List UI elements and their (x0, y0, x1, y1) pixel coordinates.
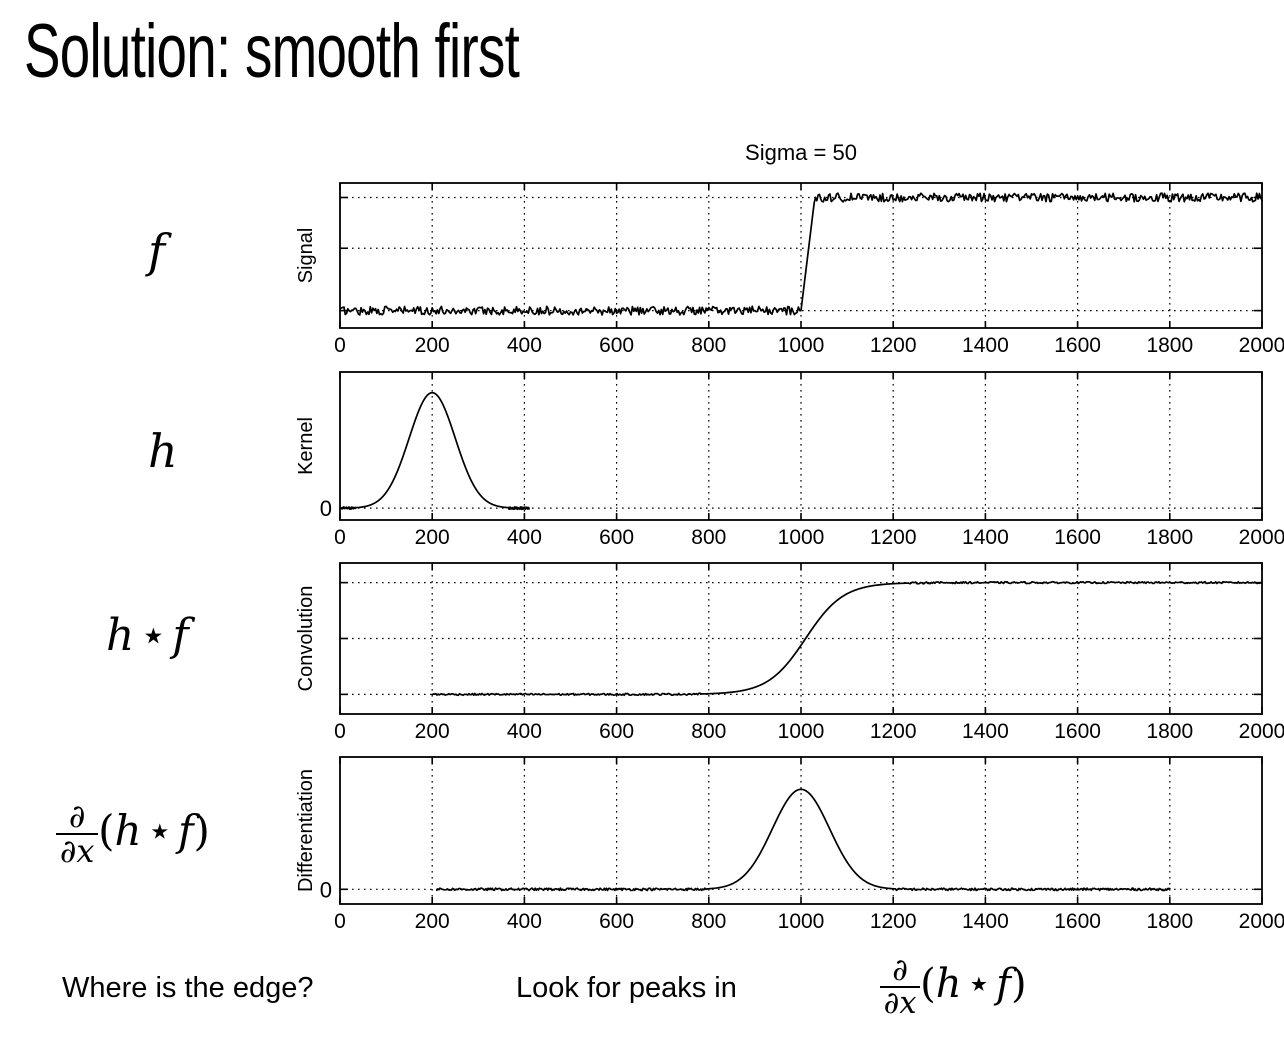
subplot-signal: 0200400600800100012001400160018002000Sig… (295, 183, 1284, 357)
x-tick-label: 800 (691, 720, 726, 743)
x-tick-label: 400 (507, 720, 542, 743)
y-axis-label: Signal (295, 228, 317, 284)
x-tick-label: 600 (599, 910, 634, 933)
data-curve (340, 393, 529, 510)
y-axis-label: Convolution (295, 586, 317, 692)
x-tick-label: 200 (415, 910, 450, 933)
x-tick-label: 2000 (1239, 720, 1284, 743)
y-axis-label: Differentiation (295, 769, 317, 892)
paren-open: ( (920, 961, 936, 1007)
x-tick-label: 200 (415, 720, 450, 743)
x-tick-label: 2000 (1239, 526, 1284, 549)
subplot-kernel: 02004006008001000120014001600180020000Ke… (295, 372, 1284, 549)
caption-where-is-the-edge: Where is the edge? (62, 972, 313, 1005)
fraction-denominator: ∂x (880, 986, 920, 1019)
y-tick-label: 0 (320, 877, 332, 902)
chart-title: Sigma = 50 (745, 140, 857, 165)
x-tick-label: 1200 (870, 720, 917, 743)
data-curve (437, 789, 1170, 890)
x-tick-label: 1600 (1054, 910, 1101, 933)
subplot-convolution: 0200400600800100012001400160018002000Con… (295, 563, 1284, 743)
slide-canvas: Solution: smooth first f h h⋆f ∂ ∂x (h⋆f… (0, 0, 1284, 1043)
partial-derivative-fraction: ∂ ∂x (880, 955, 920, 1019)
math-h: h (936, 961, 962, 1007)
paren-close: ) (1011, 961, 1027, 1007)
x-tick-label: 1200 (870, 334, 917, 357)
x-tick-label: 600 (599, 720, 634, 743)
x-tick-label: 1200 (870, 526, 917, 549)
x-tick-label: 1000 (778, 910, 825, 933)
y-tick-label: 0 (320, 496, 332, 521)
x-tick-label: 800 (691, 526, 726, 549)
x-tick-label: 0 (334, 720, 346, 743)
x-tick-label: 1600 (1054, 526, 1101, 549)
plot-frame (340, 372, 1262, 520)
x-tick-label: 800 (691, 334, 726, 357)
x-tick-label: 1400 (962, 334, 1009, 357)
x-tick-label: 400 (507, 334, 542, 357)
caption-look-for-peaks-in: Look for peaks in (516, 972, 737, 1005)
x-tick-label: 0 (334, 526, 346, 549)
x-tick-label: 200 (415, 334, 450, 357)
signal-processing-figure: Sigma = 50020040060080010001200140016001… (0, 0, 1284, 950)
x-tick-label: 2000 (1239, 334, 1284, 357)
x-tick-label: 1800 (1146, 334, 1193, 357)
x-tick-label: 1600 (1054, 334, 1101, 357)
fraction-numerator: ∂ (880, 955, 920, 986)
x-tick-label: 0 (334, 334, 346, 357)
x-tick-label: 1800 (1146, 526, 1193, 549)
chart-svg: Sigma = 50020040060080010001200140016001… (0, 0, 1284, 950)
x-tick-label: 1400 (962, 910, 1009, 933)
data-curve (340, 193, 1262, 315)
caption-derivative-formula: ∂ ∂x (h⋆f) (880, 955, 1027, 1019)
subplot-differentiation: 02004006008001000120014001600180020000Di… (295, 757, 1284, 933)
x-tick-label: 1000 (778, 526, 825, 549)
x-tick-label: 1800 (1146, 720, 1193, 743)
x-tick-label: 200 (415, 526, 450, 549)
x-tick-label: 1400 (962, 526, 1009, 549)
x-tick-label: 800 (691, 910, 726, 933)
x-tick-label: 1400 (962, 720, 1009, 743)
x-tick-label: 600 (599, 526, 634, 549)
x-tick-label: 1800 (1146, 910, 1193, 933)
x-tick-label: 400 (507, 910, 542, 933)
math-f: f (996, 961, 1011, 1007)
x-tick-label: 0 (334, 910, 346, 933)
x-tick-label: 2000 (1239, 910, 1284, 933)
x-tick-label: 600 (599, 334, 634, 357)
x-tick-label: 400 (507, 526, 542, 549)
x-tick-label: 1600 (1054, 720, 1101, 743)
y-axis-label: Kernel (295, 417, 317, 475)
x-tick-label: 1000 (778, 334, 825, 357)
convolution-star-icon: ⋆ (962, 961, 997, 1007)
x-tick-label: 1200 (870, 910, 917, 933)
x-tick-label: 1000 (778, 720, 825, 743)
